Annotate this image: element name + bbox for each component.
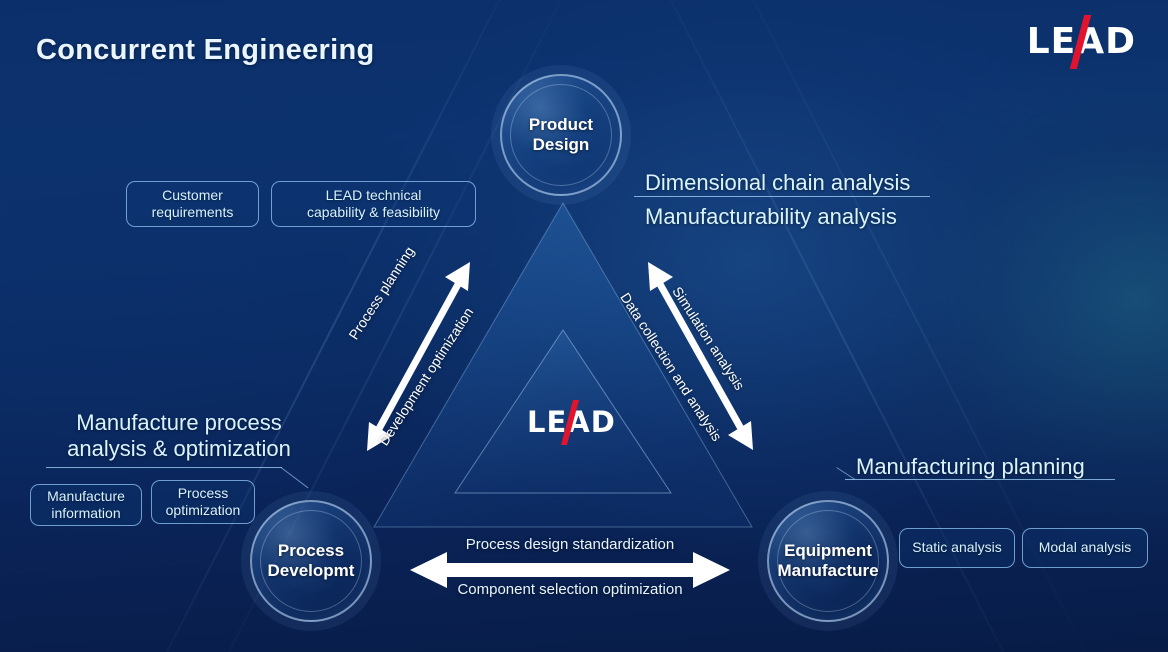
pill-label: Customer requirements (152, 187, 234, 222)
heading-line2: analysis & optimization (67, 436, 291, 461)
pill-label-line1: LEAD technical (326, 187, 422, 203)
lead-logo-center: LEAD (527, 408, 616, 437)
node-label-line2: Developmt (268, 561, 355, 580)
node-label-line1: Product (529, 115, 593, 134)
lead-logo-top-right: LEAD (1027, 24, 1136, 60)
arrow-label-development-optimization: Development optimization (375, 305, 476, 449)
heading-divider-top-right (634, 196, 930, 197)
heading-manufacture-process-analysis: Manufacture process analysis & optimizat… (50, 410, 308, 463)
pill-label-line2: requirements (152, 204, 234, 220)
node-label: Equipment Manufacture (777, 541, 878, 582)
arrow-label-component-selection-optimization: Component selection optimization (400, 581, 740, 598)
pill-process-optimization[interactable]: Process optimization (151, 480, 255, 524)
node-process-development[interactable]: Process Developmt (250, 500, 372, 622)
heading-underline-right (845, 479, 1115, 480)
pill-label-line2: capability & feasibility (307, 204, 440, 220)
arrow-label-data-collection-and-analysis: Data collection and analysis (617, 290, 725, 444)
node-label-line2: Design (533, 135, 590, 154)
pill-label-line2: information (51, 505, 120, 521)
pill-label-line1: Process (178, 485, 229, 501)
heading-dimensional-chain-analysis: Dimensional chain analysis (645, 166, 910, 199)
node-label: Process Developmt (268, 541, 355, 582)
pill-label: Process optimization (166, 485, 241, 520)
heading-connector-right (836, 467, 855, 480)
node-label-line2: Manufacture (777, 561, 878, 580)
pill-customer-requirements[interactable]: Customer requirements (126, 181, 259, 227)
heading-underline-left (46, 467, 282, 468)
pill-label-line2: optimization (166, 502, 241, 518)
pill-static-analysis[interactable]: Static analysis (899, 528, 1015, 568)
node-label: Product Design (529, 115, 593, 156)
node-label-line1: Process (278, 541, 344, 560)
pill-label: Static analysis (912, 539, 1001, 557)
arrow-label-process-design-standardization: Process design standardization (400, 536, 740, 553)
pill-label: LEAD technical capability & feasibility (307, 187, 440, 222)
slide-canvas: Concurrent Engineering LEAD LEAD Product… (0, 0, 1168, 652)
page-title: Concurrent Engineering (36, 34, 375, 67)
pill-lead-technical-capability[interactable]: LEAD technical capability & feasibility (271, 181, 476, 227)
heading-connector-left (281, 467, 309, 488)
pill-manufacture-information[interactable]: Manufacture information (30, 484, 142, 526)
arrow-label-process-planning: Process planning (345, 244, 417, 343)
pill-label: Modal analysis (1039, 539, 1132, 557)
node-equipment-manufacture[interactable]: Equipment Manufacture (767, 500, 889, 622)
pill-label-line1: Customer (162, 187, 223, 203)
pill-label-line1: Manufacture (47, 488, 125, 504)
heading-line1: Manufacture process (76, 410, 281, 435)
node-label-line1: Equipment (784, 541, 872, 560)
node-product-design[interactable]: Product Design (500, 74, 622, 196)
pill-modal-analysis[interactable]: Modal analysis (1022, 528, 1148, 568)
pill-label: Manufacture information (47, 488, 125, 523)
heading-manufacturability-analysis: Manufacturability analysis (645, 200, 897, 233)
